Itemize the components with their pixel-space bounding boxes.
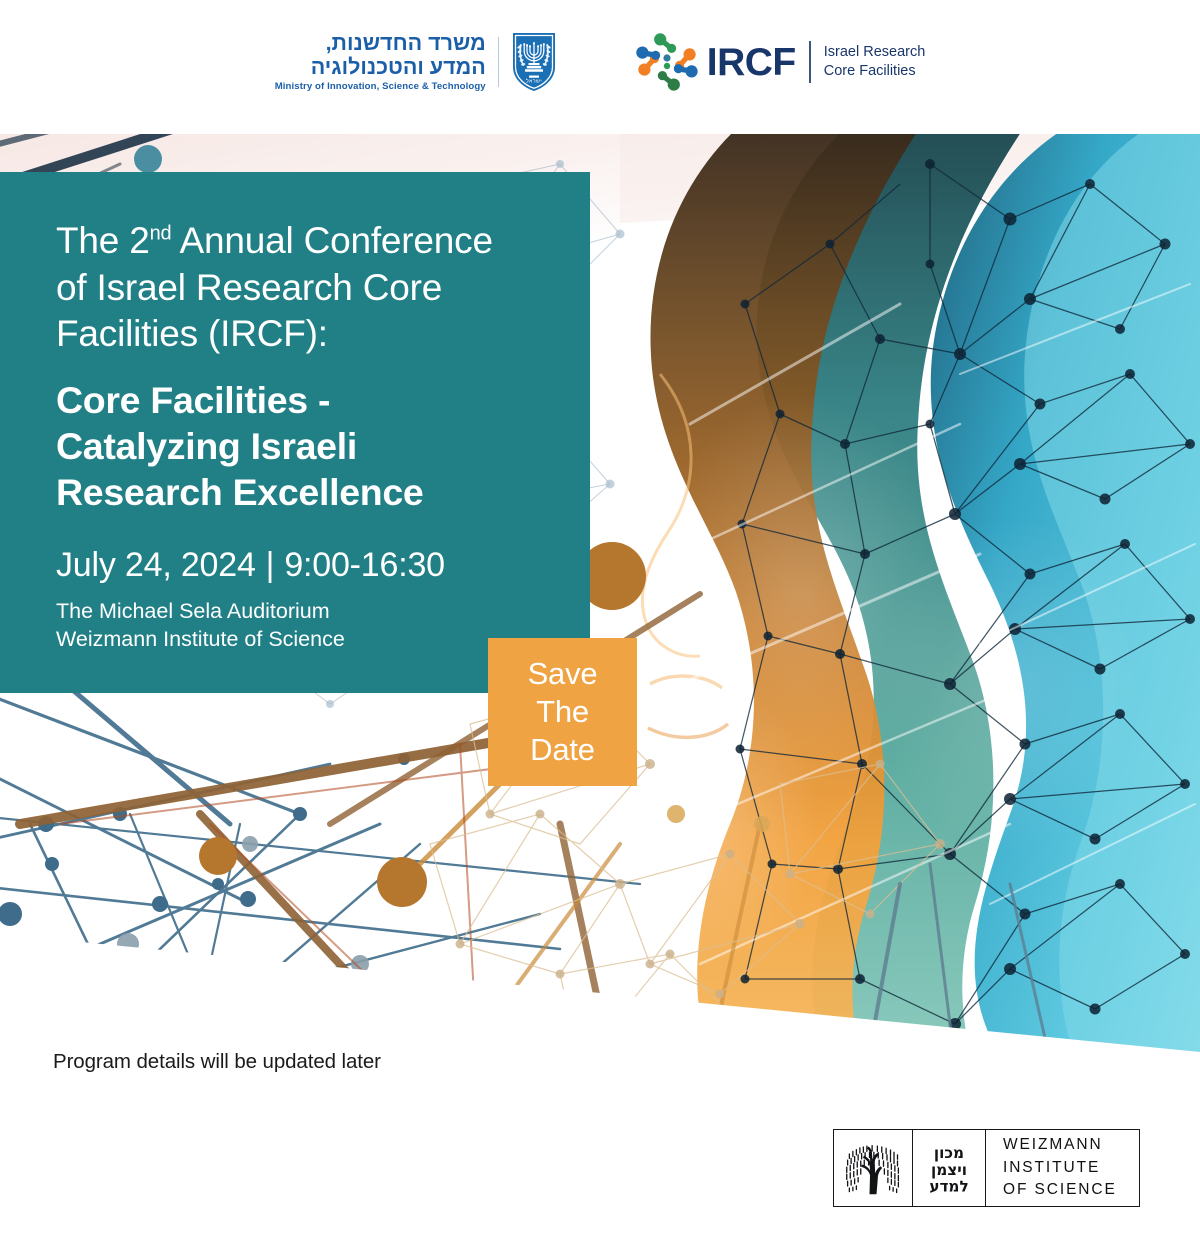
weizmann-tree-icon <box>834 1130 913 1206</box>
ministry-hebrew-line1: משרד החדשנות, <box>275 31 486 55</box>
conference-date: July 24, 2024 <box>56 546 256 584</box>
save-the-date-line-1: Save <box>528 655 598 693</box>
weizmann-english-name: WEIZMANN INSTITUTE OF SCIENCE <box>986 1130 1139 1206</box>
weizmann-english-line-2: INSTITUTE <box>1003 1157 1117 1180</box>
datetime-separator: | <box>256 545 285 586</box>
weizmann-institute-logo: מכון ויצמן למדע WEIZMANN INSTITUTE OF SC… <box>833 1129 1140 1207</box>
ministry-logo: משרד החדשנות, המדע והטכנולוגיה Ministry … <box>275 31 558 93</box>
artwork-top-edge <box>0 124 1200 134</box>
conference-datetime: July 24, 2024|9:00-16:30 <box>56 545 590 586</box>
ircf-logo: IRCF Israel Research Core Facilities <box>636 31 926 93</box>
eyebrow-line1-rest: Annual Conference <box>171 220 492 261</box>
ircf-subtitle-line2: Core Facilities <box>824 62 926 81</box>
logo-group: משרד החדשנות, המדע והטכנולוגיה Ministry … <box>275 31 926 93</box>
svg-text:מכון: מכון <box>934 1144 964 1162</box>
svg-text:למדע: למדע <box>929 1177 968 1194</box>
headline-line-2: Catalyzing Israeli <box>56 423 590 469</box>
weizmann-english-text: WEIZMANN INSTITUTE OF SCIENCE <box>1003 1134 1117 1202</box>
weizmann-english-line-3: OF SCIENCE <box>1003 1179 1117 1202</box>
conference-eyebrow: The 2nd Annual Conference of Israel Rese… <box>56 218 590 358</box>
ministry-hebrew-line2: המדע והטכנולוגיה <box>275 55 486 79</box>
ircf-pinwheel-icon <box>636 31 698 93</box>
save-the-date-line-2: The <box>536 693 589 731</box>
ministry-text-block: משרד החדשנות, המדע והטכנולוגיה Ministry … <box>275 31 498 93</box>
ircf-subtitle: Israel Research Core Facilities <box>824 43 926 80</box>
save-the-date-badge: Save The Date <box>488 638 637 786</box>
eyebrow-line-2: of Israel Research Core <box>56 265 590 312</box>
ministry-english-tagline: Ministry of Innovation, Science & Techno… <box>275 82 486 93</box>
eyebrow-ordinal: nd <box>150 223 172 245</box>
conference-info-panel: The 2nd Annual Conference of Israel Rese… <box>0 172 590 693</box>
headline-line-3: Research Excellence <box>56 469 590 515</box>
poster-root: משרד החדשנות, המדע והטכנולוגיה Ministry … <box>0 0 1200 1246</box>
conference-headline: Core Facilities - Catalyzing Israeli Res… <box>56 377 590 515</box>
weizmann-english-line-1: WEIZMANN <box>1003 1134 1117 1157</box>
header-logo-bar: משרד החדשנות, המדע והטכנולוגיה Ministry … <box>0 0 1200 124</box>
eyebrow-line-1: The 2nd Annual Conference <box>56 218 590 265</box>
ircf-subtitle-line1: Israel Research <box>824 43 926 62</box>
save-the-date-line-3: Date <box>530 731 595 769</box>
eyebrow-line-3: Facilities (IRCF): <box>56 311 590 358</box>
svg-text:ישראל: ישראל <box>526 78 542 85</box>
ircf-wordmark: IRCF <box>707 43 796 82</box>
israel-state-emblem-icon: ישראל <box>510 31 558 93</box>
eyebrow-line1-text: The 2 <box>56 220 150 261</box>
ircf-divider <box>809 41 811 83</box>
venue-line-1: The Michael Sela Auditorium <box>56 598 590 626</box>
program-note: Program details will be updated later <box>53 1050 381 1074</box>
conference-time: 9:00-16:30 <box>284 546 445 584</box>
weizmann-hebrew-name: מכון ויצמן למדע <box>913 1130 986 1206</box>
headline-line-1: Core Facilities - <box>56 377 590 423</box>
ministry-divider <box>498 37 499 87</box>
